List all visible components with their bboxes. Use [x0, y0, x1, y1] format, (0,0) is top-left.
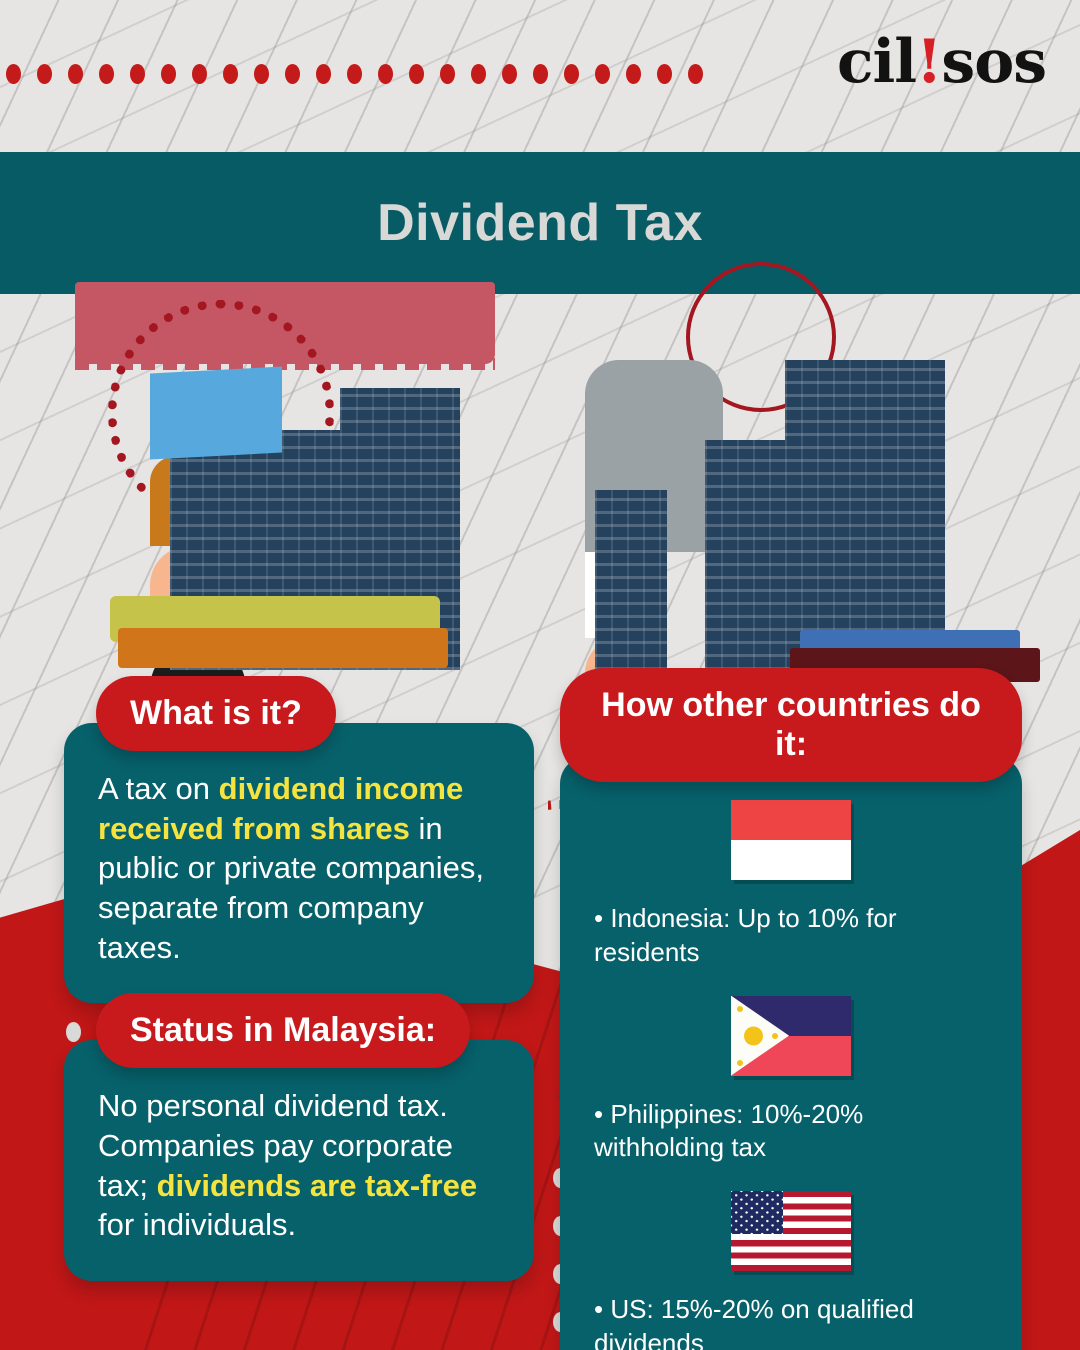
header-dot [99, 64, 114, 84]
header-dot [595, 64, 610, 84]
logo-text-part1: cil [837, 27, 916, 97]
header-dot [254, 64, 269, 84]
what-is-it-heading-label: What is it? [130, 694, 302, 732]
flag-star-icon [737, 1006, 743, 1012]
status-malaysia-heading-label: Status in Malaysia: [130, 1011, 436, 1049]
header-dot [6, 64, 21, 84]
header-dot [502, 64, 517, 84]
country-entry-indonesia: • Indonesia: Up to 10% for residents [586, 800, 996, 970]
left-content-column: What is it? A tax on dividend income rec… [64, 676, 534, 1281]
building-icon [595, 490, 667, 670]
flag-star-icon [772, 1033, 778, 1039]
what-is-it-heading-pill: What is it? [96, 676, 336, 751]
header-dot [347, 64, 362, 84]
body-text-pre: A tax on [98, 771, 219, 806]
laptop-screen-icon [150, 367, 282, 460]
body2-text-highlight: dividends are tax-free [157, 1168, 477, 1203]
orange-brush-stroke-decoration [118, 628, 448, 668]
country-entry-us: • US: 15%-20% on qualified dividends [586, 1191, 996, 1350]
header-dot [626, 64, 641, 84]
decorative-dot [66, 1022, 81, 1042]
philippines-flag-wrapper [586, 996, 996, 1076]
what-is-it-card: A tax on dividend income received from s… [64, 723, 534, 1003]
building-icon [785, 360, 945, 670]
other-countries-heading-label: How other countries do it: [601, 686, 981, 763]
header-dot [564, 64, 579, 84]
body2-text-post: for individuals. [98, 1207, 296, 1242]
page-title: Dividend Tax [377, 193, 703, 253]
flag-stripe-white [731, 840, 851, 880]
country-text-philippines: • Philippines: 10%-20% withholding tax [586, 1098, 996, 1166]
infographic-poster: cil!sos Dividend Tax [0, 0, 1080, 1350]
header-dot [316, 64, 331, 84]
flag-star-icon [737, 1060, 743, 1066]
header-dot [223, 64, 238, 84]
header-dot [409, 64, 424, 84]
right-content-column: How other countries do it: • Indonesia: … [560, 668, 1022, 1350]
status-malaysia-card: No personal dividend tax. Companies pay … [64, 1040, 534, 1281]
flag-stripe-red [731, 800, 851, 840]
other-countries-card: • Indonesia: Up to 10% for residents • P… [560, 756, 1022, 1350]
header-dot [285, 64, 300, 84]
philippines-flag-icon [731, 996, 851, 1076]
header-dot [130, 64, 145, 84]
country-entry-philippines: • Philippines: 10%-20% withholding tax [586, 996, 996, 1166]
other-countries-heading-pill: How other countries do it: [560, 668, 1022, 782]
header-dot [161, 64, 176, 84]
indonesia-flag-wrapper [586, 800, 996, 880]
header-dot [688, 64, 703, 84]
cilisos-logo[interactable]: cil!sos [837, 32, 1046, 92]
header-dot [37, 64, 52, 84]
country-text-indonesia: • Indonesia: Up to 10% for residents [586, 902, 996, 970]
header-dot-row [6, 64, 703, 84]
status-malaysia-heading-pill: Status in Malaysia: [96, 993, 470, 1068]
header-dot [533, 64, 548, 84]
indonesia-flag-icon [731, 800, 851, 880]
us-flag-wrapper [586, 1191, 996, 1271]
header-dot [192, 64, 207, 84]
title-banner: Dividend Tax [0, 152, 1080, 294]
building-windows-icon [785, 360, 945, 670]
flag-sun-icon [744, 1026, 763, 1045]
header-dot [378, 64, 393, 84]
illustration-handshake [585, 360, 1005, 670]
flag-canton-stars [731, 1191, 783, 1234]
us-flag-icon [731, 1191, 851, 1271]
country-text-us: • US: 15%-20% on qualified dividends [586, 1293, 996, 1350]
header-dot [68, 64, 83, 84]
logo-text-part2: sos [941, 27, 1046, 97]
header-dot [657, 64, 672, 84]
what-is-it-body: A tax on dividend income received from s… [98, 769, 500, 967]
status-malaysia-body: No personal dividend tax. Companies pay … [98, 1086, 500, 1245]
header-dot [471, 64, 486, 84]
header-dot [440, 64, 455, 84]
building-windows-icon [595, 490, 667, 670]
logo-exclamation-icon: ! [916, 27, 941, 97]
